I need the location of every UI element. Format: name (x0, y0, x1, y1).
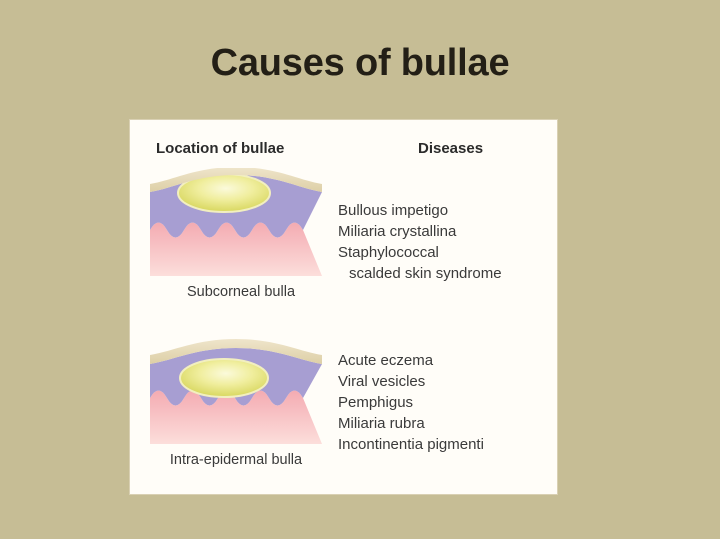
bulla-intra-epidermal (180, 359, 268, 397)
disease-item: Staphylococcal (338, 242, 548, 263)
disease-list-subcorneal: Bullous impetigo Miliaria crystallina St… (338, 200, 548, 284)
skin-diagram-subcorneal: Subcorneal bulla (148, 168, 324, 300)
skin-cross-section-intra-epidermal (148, 336, 324, 446)
figure-panel: Location of bullae Diseases (130, 120, 557, 494)
column-header-location: Location of bullae (156, 140, 284, 157)
page-title: Causes of bullae (0, 40, 720, 86)
disease-item: Viral vesicles (338, 371, 548, 392)
disease-item: Bullous impetigo (338, 200, 548, 221)
skin-caption-intra-epidermal: Intra-epidermal bulla (148, 452, 324, 468)
disease-item: scalded skin syndrome (338, 263, 548, 284)
skin-caption-subcorneal: Subcorneal bulla (148, 284, 324, 300)
disease-item: Acute eczema (338, 350, 548, 371)
skin-diagram-intra-epidermal: Intra-epidermal bulla (148, 336, 324, 468)
disease-item: Incontinentia pigmenti (338, 434, 548, 455)
disease-item: Miliaria crystallina (338, 221, 548, 242)
column-header-diseases: Diseases (418, 140, 483, 157)
disease-item: Pemphigus (338, 392, 548, 413)
disease-list-intra-epidermal: Acute eczema Viral vesicles Pemphigus Mi… (338, 350, 548, 455)
skin-cross-section-subcorneal (148, 168, 324, 278)
disease-item: Miliaria rubra (338, 413, 548, 434)
